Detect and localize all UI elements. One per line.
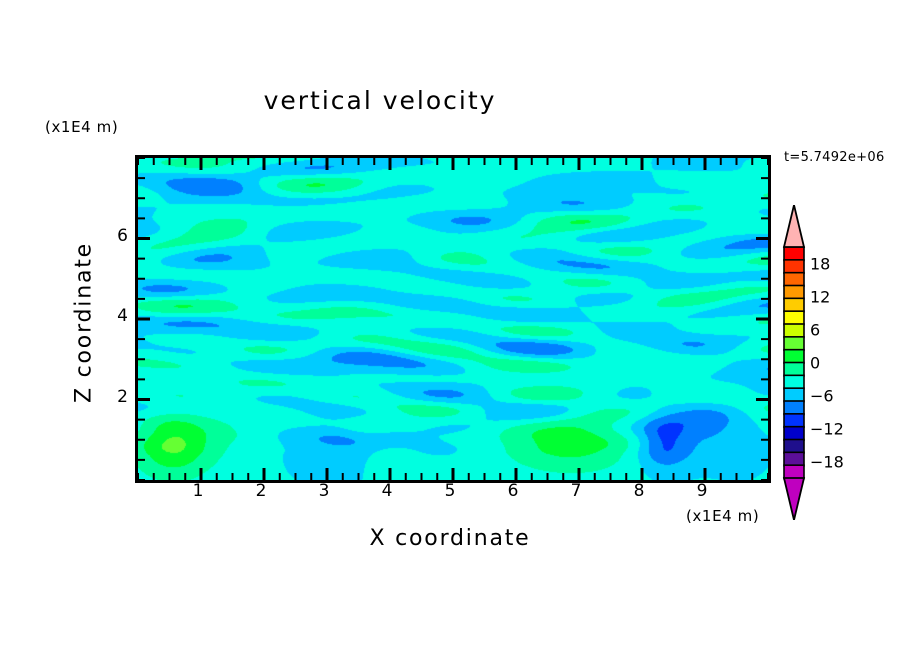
colorbar-label: −6: [810, 386, 834, 405]
x-axis-title: X coordinate: [135, 526, 765, 551]
colorbar-label: 12: [810, 287, 830, 306]
x-tick-label: 3: [319, 481, 330, 501]
contour-plot-area: [135, 155, 771, 483]
x-tick-label: 2: [256, 481, 267, 501]
x-axis-unit-label: (x1E4 m): [686, 507, 759, 525]
y-axis-tick-labels: 246: [98, 0, 128, 654]
colorbar-tick-labels: 181260−6−12−18: [810, 0, 870, 654]
x-tick-label: 5: [445, 481, 456, 501]
x-tick-label: 4: [382, 481, 393, 501]
colorbar-label: 0: [810, 353, 820, 372]
y-tick-label: 4: [98, 306, 128, 326]
colorbar: [781, 205, 807, 520]
y-tick-label: 6: [98, 226, 128, 246]
colorbar-label: −18: [810, 452, 844, 471]
y-axis-title: Z coordinate: [72, 203, 97, 443]
x-tick-label: 8: [634, 481, 645, 501]
plot-window: vertical velocity (x1E4 m) t=5.7492e+06 …: [0, 0, 904, 654]
x-tick-label: 6: [508, 481, 519, 501]
x-tick-label: 9: [697, 481, 708, 501]
x-tick-label: 7: [571, 481, 582, 501]
axis-tick-overlay: [138, 158, 768, 480]
colorbar-label: 6: [810, 320, 820, 339]
x-tick-label: 1: [193, 481, 204, 501]
y-tick-label: 2: [98, 387, 128, 407]
colorbar-label: −12: [810, 419, 844, 438]
colorbar-label: 18: [810, 254, 830, 273]
